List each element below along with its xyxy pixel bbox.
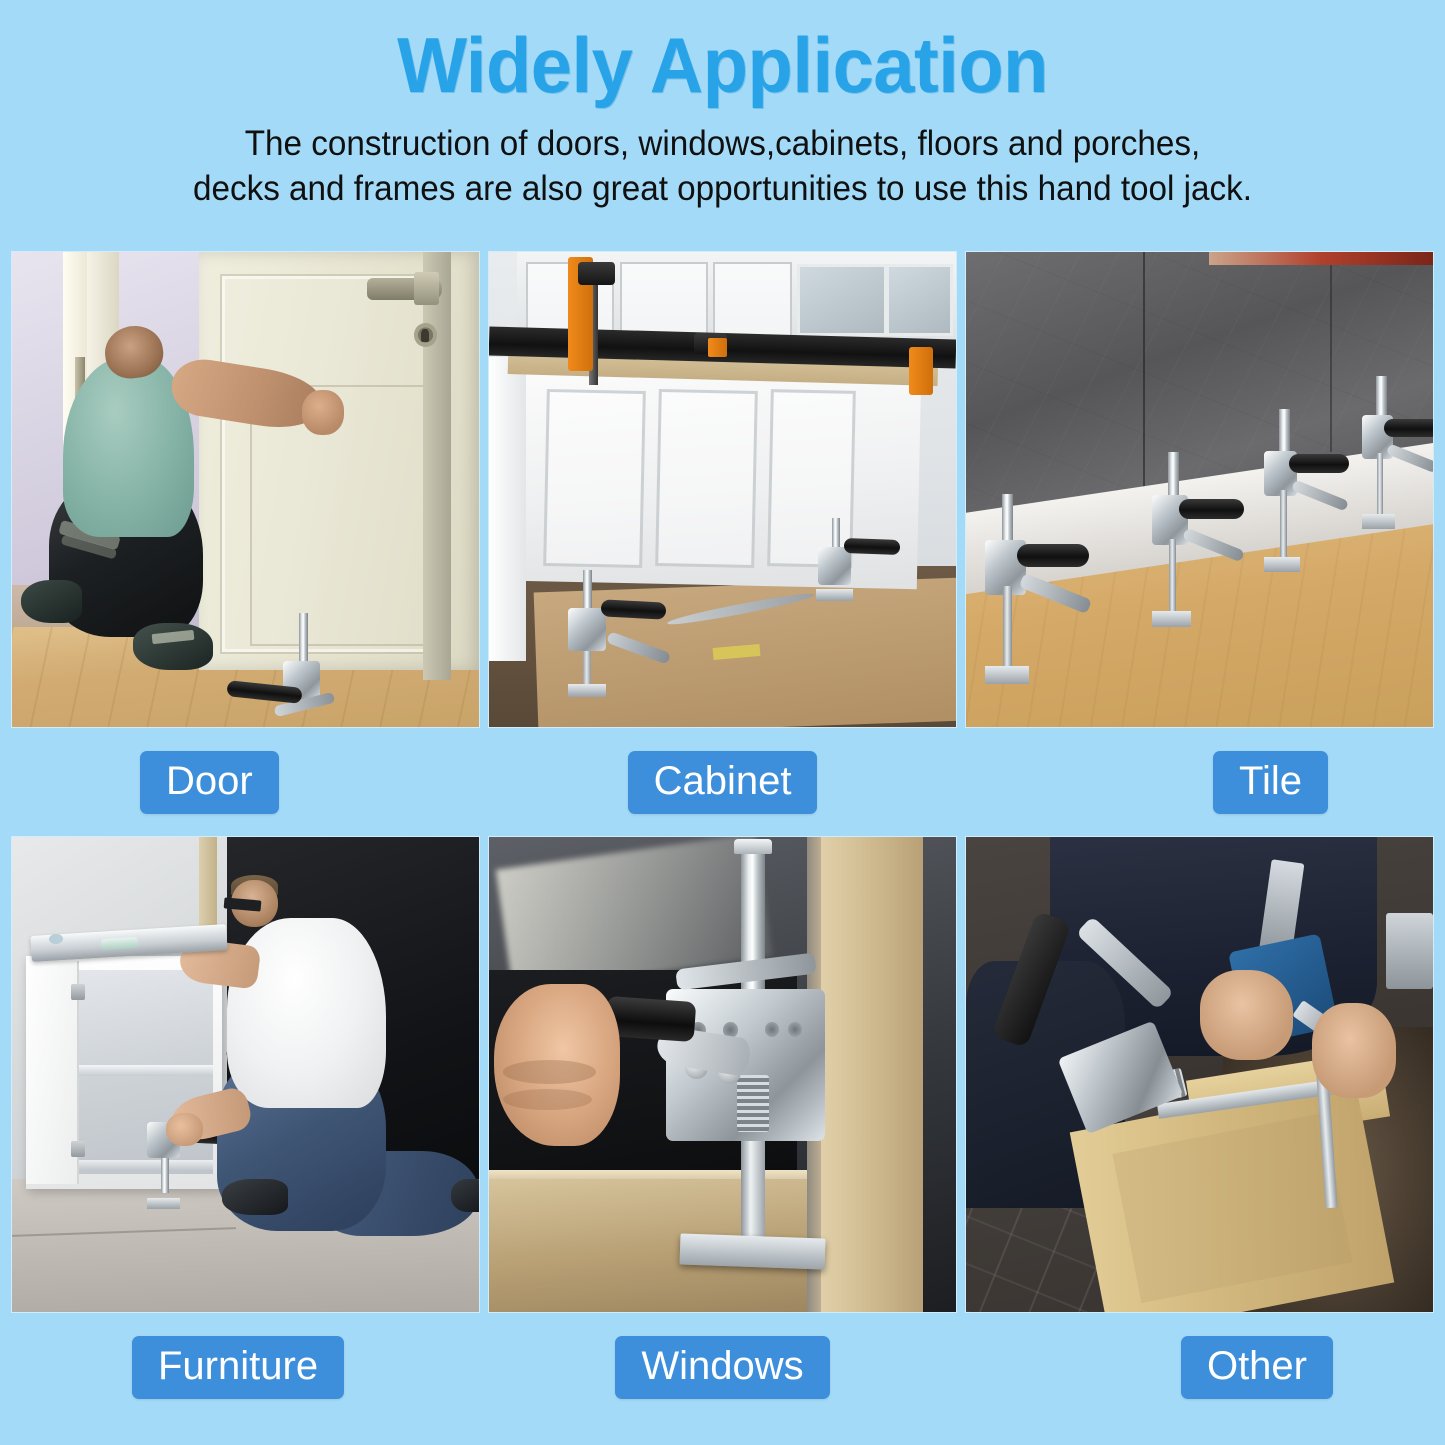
installer-shoe-right	[451, 1179, 479, 1212]
door-edge-shadow	[423, 252, 451, 680]
jack-row-item-4	[1354, 376, 1433, 557]
subtitle-line-2: decks and frames are also great opportun…	[93, 167, 1352, 212]
upper-door-3	[713, 262, 792, 342]
cabinet-hinge-bottom	[71, 1141, 85, 1157]
bar-clamp-3	[909, 347, 932, 395]
wall-top-strip	[1209, 252, 1433, 265]
cabinet-hinge-top	[71, 984, 85, 1000]
jack-1-base-plate	[568, 684, 605, 696]
upper-glass-door-1	[797, 264, 887, 337]
badge-row-windows: Windows	[489, 1312, 956, 1422]
gallery-cell-tile: Tile	[966, 252, 1433, 837]
label-badge-door[interactable]: Door	[140, 751, 279, 814]
gallery-row-2: Furniture	[0, 837, 1445, 1422]
worker-fist	[302, 390, 344, 435]
worker-shoe-right	[133, 623, 212, 671]
label-badge-windows[interactable]: Windows	[615, 1336, 829, 1399]
mechanism-hole-4	[788, 1022, 802, 1036]
jack-2-handle	[844, 538, 901, 555]
mechanism-hole-3	[765, 1022, 779, 1036]
door-handle-rose	[414, 272, 440, 305]
badge-row-tile: Tile	[966, 727, 1433, 837]
jack-1-post	[583, 570, 591, 613]
gallery-cell-windows: Windows	[489, 837, 956, 1422]
worker-shoe-left	[21, 580, 82, 623]
bar-clamp-grip-1	[578, 262, 615, 286]
label-badge-other[interactable]: Other	[1181, 1336, 1333, 1399]
spirit-level-vial	[100, 937, 138, 951]
installer-hand	[166, 1113, 203, 1146]
gallery-cell-door: Door	[12, 252, 479, 837]
cabinet-shelf-2	[77, 1160, 212, 1170]
windows-jack-post-cap	[734, 839, 771, 853]
page-subtitle: The construction of doors, windows,cabin…	[36, 110, 1409, 212]
operator-knuckles-2	[503, 1089, 592, 1110]
jack-2-body	[818, 547, 851, 585]
photo-tile	[966, 252, 1433, 727]
jack-1-body	[568, 608, 605, 651]
jack-2-base-plate	[816, 589, 853, 600]
window-timber-frame	[821, 837, 924, 1312]
base-cabinet-end-panel	[489, 357, 526, 661]
badge-row-door: Door	[12, 727, 479, 837]
gallery-cell-cabinet: Cabinet	[489, 252, 956, 837]
label-badge-tile[interactable]: Tile	[1213, 751, 1328, 814]
photo-door	[12, 252, 479, 727]
label-badge-furniture[interactable]: Furniture	[132, 1336, 344, 1399]
cabinet-shelf-1	[77, 1065, 212, 1076]
metal-bracket	[1386, 913, 1433, 989]
subtitle-line-1: The construction of doors, windows,cabin…	[93, 122, 1352, 167]
installer-shoe-left	[222, 1179, 287, 1215]
application-gallery: Door	[0, 252, 1445, 1422]
operator-knuckles-1	[503, 1060, 596, 1084]
label-badge-cabinet[interactable]: Cabinet	[628, 751, 818, 814]
base-cabinet-panel-3	[767, 389, 856, 568]
jack-row-item-3	[1256, 409, 1363, 599]
worker-hand-right	[1312, 1003, 1396, 1098]
gallery-cell-other: Other	[966, 837, 1433, 1422]
photo-furniture	[12, 837, 479, 1312]
photo-cabinet	[489, 252, 956, 727]
gallery-row-1: Door	[0, 252, 1445, 837]
door-keyhole	[421, 329, 428, 341]
photo-windows	[489, 837, 956, 1312]
jack-row-item-2	[1143, 452, 1255, 652]
badge-row-other: Other	[966, 1312, 1433, 1422]
windows-jack-base-plate	[680, 1233, 826, 1269]
jack-1-handle	[601, 599, 667, 619]
header: Widely Application The construction of d…	[0, 0, 1445, 212]
worker-hand-left	[1200, 970, 1293, 1060]
upper-glass-door-2	[886, 264, 953, 337]
bar-clamp-grip-2	[708, 338, 727, 357]
gallery-cell-furniture: Furniture	[12, 837, 479, 1422]
windows-jack-spring	[737, 1075, 770, 1132]
base-cabinet-panel-1	[543, 389, 646, 568]
jack-row-item-1	[975, 494, 1096, 703]
badge-row-cabinet: Cabinet	[489, 727, 956, 837]
page-title: Widely Application	[36, 26, 1409, 110]
photo-other	[966, 837, 1433, 1312]
badge-row-furniture: Furniture	[12, 1312, 479, 1422]
base-cabinet-panel-2	[655, 389, 758, 568]
furniture-jack-base-plate	[147, 1198, 180, 1209]
